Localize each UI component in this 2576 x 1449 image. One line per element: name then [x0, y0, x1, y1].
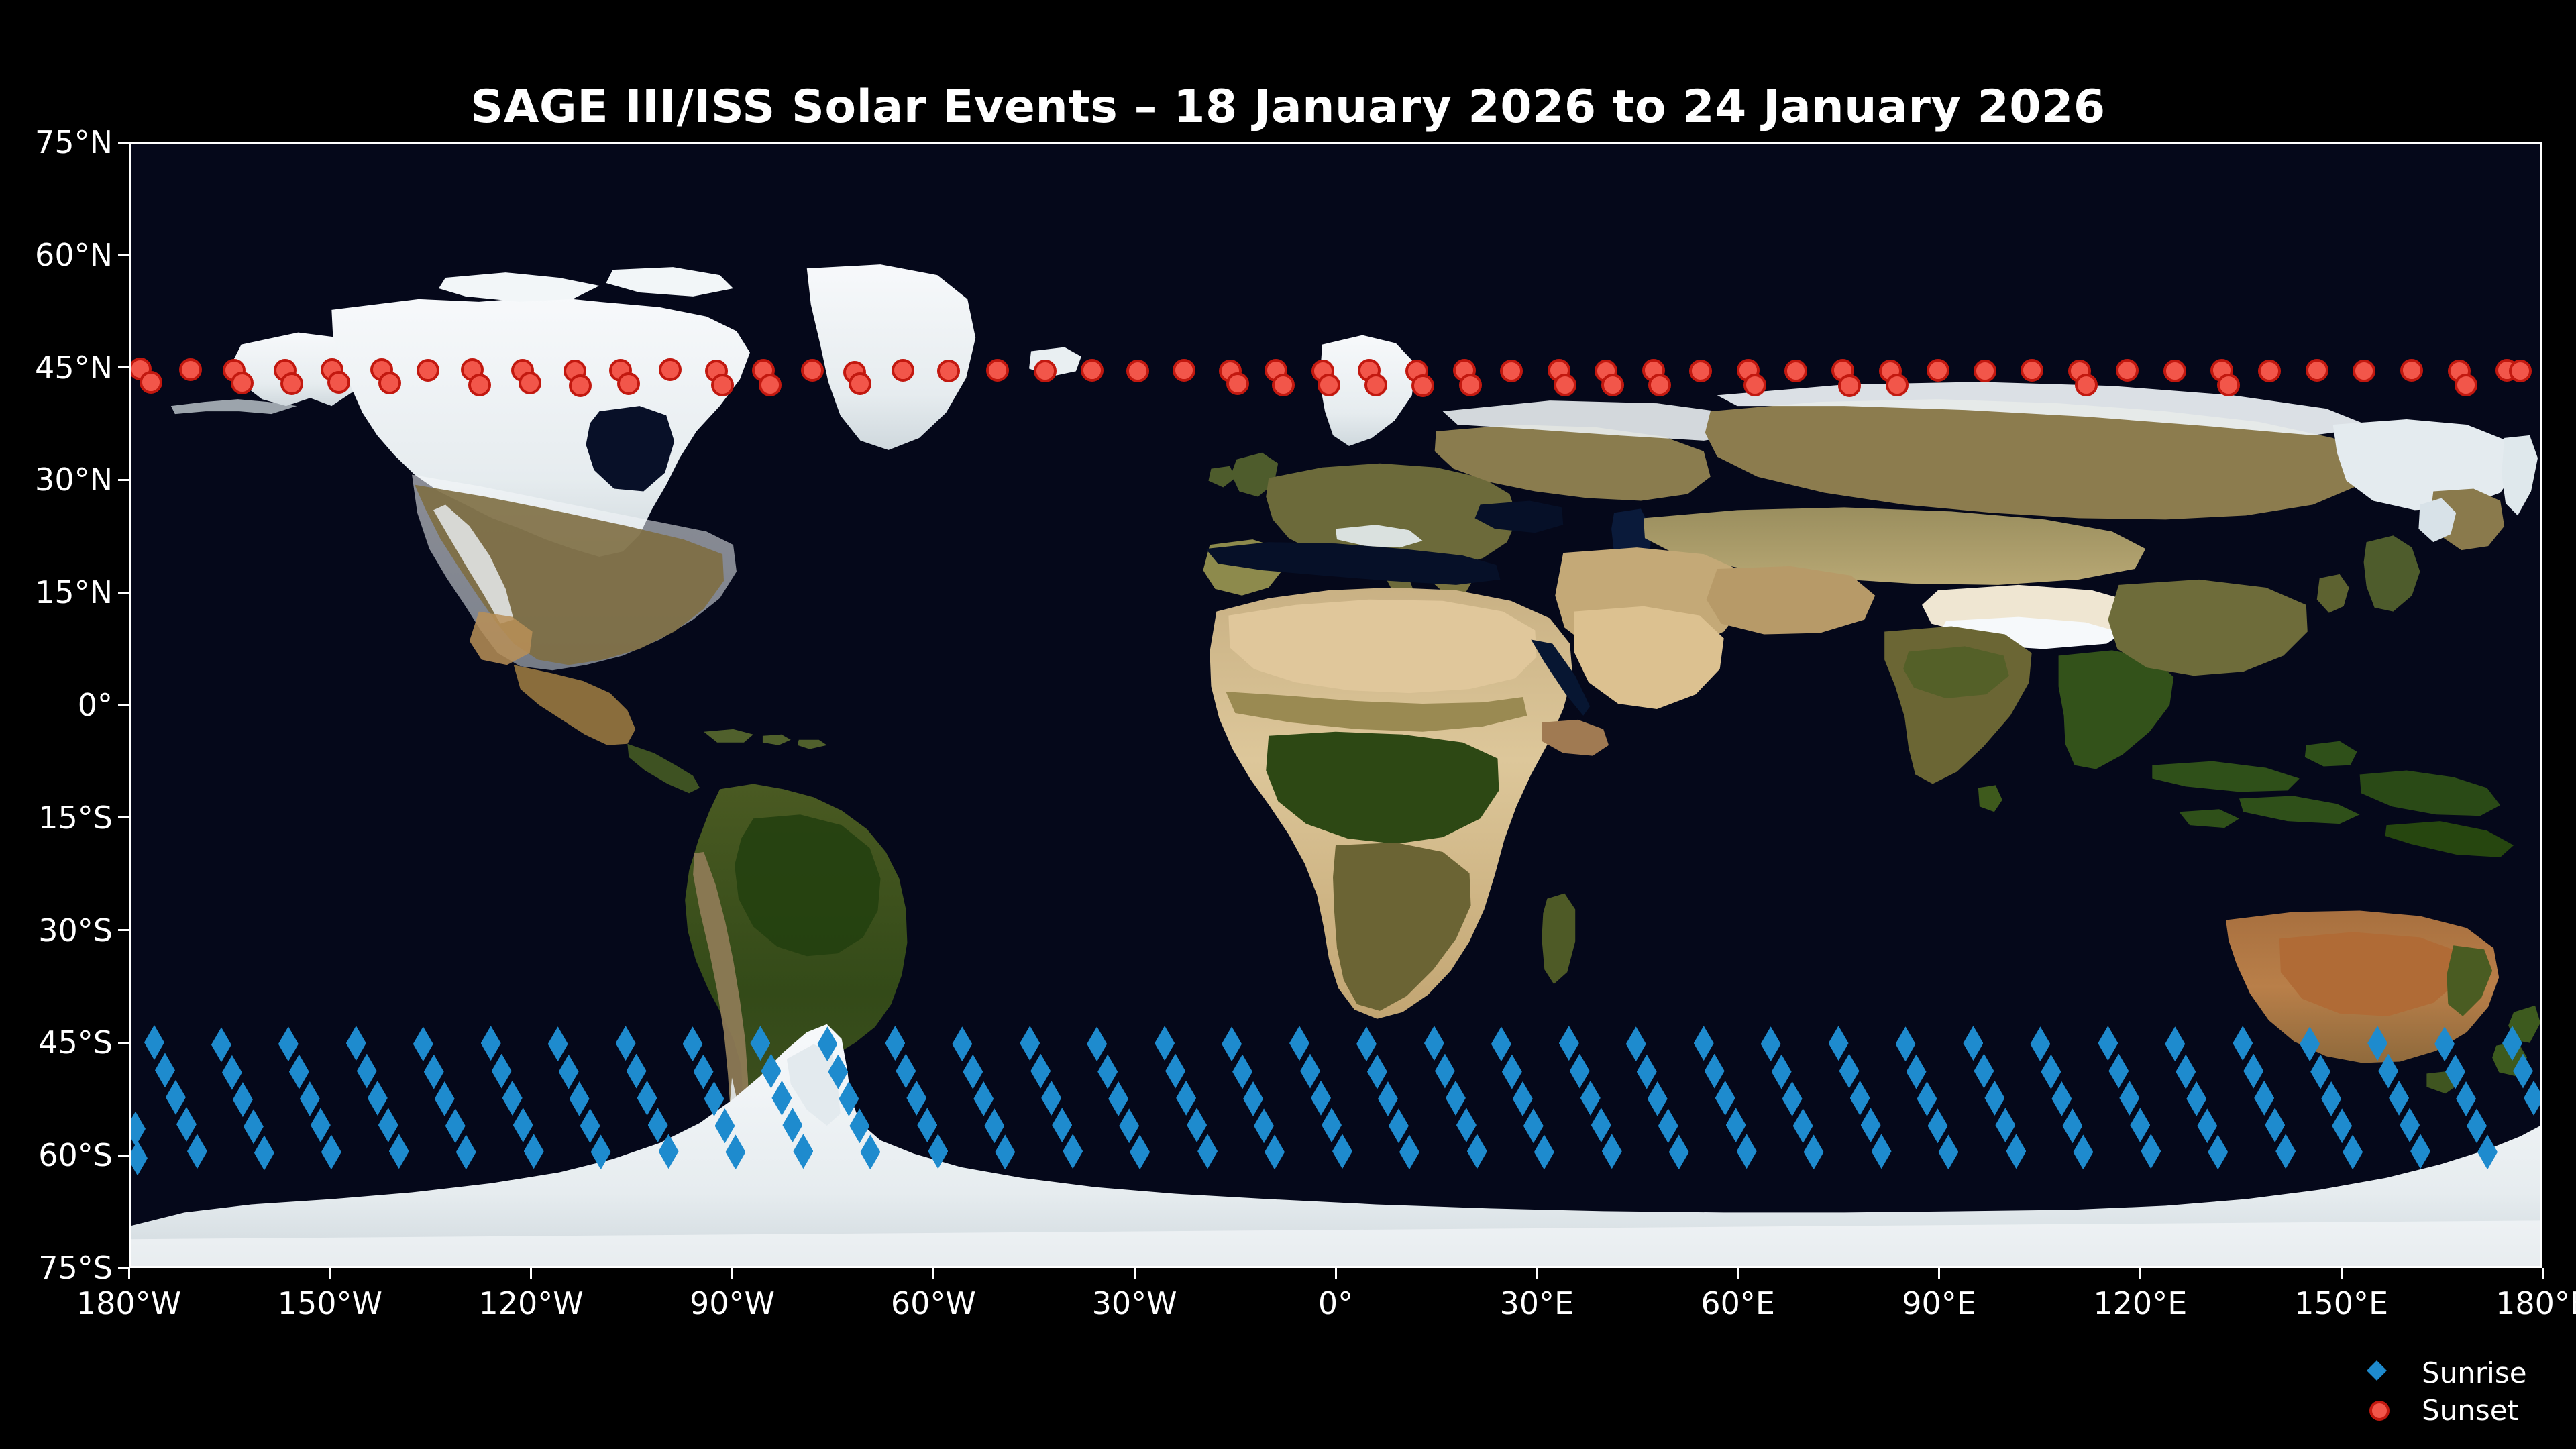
x-axis-label: 150°E	[2254, 1285, 2428, 1322]
x-axis-tick	[1737, 1268, 1739, 1279]
y-axis-label: 60°S	[0, 1137, 113, 1173]
x-axis-tick	[2139, 1268, 2141, 1279]
x-axis-tick	[1335, 1268, 1337, 1279]
x-axis-label: 30°W	[1047, 1285, 1222, 1322]
x-axis-label: 180°W	[42, 1285, 216, 1322]
y-axis-tick	[118, 1155, 129, 1157]
x-axis-tick	[1938, 1268, 1940, 1279]
page-title: SAGE III/ISS Solar Events – 18 January 2…	[0, 80, 2576, 133]
y-axis-tick	[118, 592, 129, 594]
x-axis-tick	[932, 1268, 934, 1279]
sunrise-diamond-icon	[2367, 1360, 2387, 1381]
world-basemap	[131, 144, 2540, 1266]
solar-events-figure: SAGE III/ISS Solar Events – 18 January 2…	[0, 0, 2576, 1449]
y-axis-tick	[118, 366, 129, 368]
x-axis-tick	[128, 1268, 130, 1279]
y-axis-label: 0°	[0, 687, 113, 723]
y-axis-label: 30°S	[0, 912, 113, 949]
y-axis-label: 60°N	[0, 237, 113, 273]
x-axis-label: 120°E	[2053, 1285, 2227, 1322]
y-axis-label: 15°S	[0, 800, 113, 836]
legend-label-sunrise: Sunrise	[2422, 1356, 2527, 1389]
y-axis-label: 45°S	[0, 1024, 113, 1061]
sunset-circle-icon	[2369, 1401, 2390, 1421]
legend-item-sunrise: Sunrise	[2355, 1355, 2576, 1390]
y-axis-tick	[118, 479, 129, 481]
y-axis-label: 30°N	[0, 462, 113, 498]
x-axis-tick	[2542, 1268, 2544, 1279]
x-axis-label: 150°W	[243, 1285, 417, 1322]
y-axis-tick	[118, 816, 129, 818]
x-axis-label: 90°E	[1852, 1285, 2027, 1322]
legend-label-sunset: Sunset	[2422, 1394, 2518, 1427]
x-axis-label: 60°W	[846, 1285, 1020, 1322]
y-axis-tick	[118, 704, 129, 706]
x-axis-tick	[731, 1268, 733, 1279]
x-axis-tick	[329, 1268, 331, 1279]
x-axis-label: 120°W	[444, 1285, 619, 1322]
legend: Sunrise Sunset	[2355, 1355, 2576, 1436]
x-axis-tick	[1536, 1268, 1538, 1279]
y-axis-tick	[118, 929, 129, 931]
x-axis-label: 180°E	[2455, 1285, 2576, 1322]
x-axis-label: 0°	[1248, 1285, 1423, 1322]
y-axis-label: 75°S	[0, 1250, 113, 1286]
y-axis-tick	[118, 142, 129, 144]
y-axis-tick	[118, 254, 129, 256]
x-axis-label: 30°E	[1450, 1285, 1624, 1322]
legend-item-sunset: Sunset	[2355, 1393, 2576, 1428]
x-axis-label: 60°E	[1651, 1285, 1825, 1322]
y-axis-tick	[118, 1042, 129, 1044]
y-axis-label: 75°N	[0, 124, 113, 160]
x-axis-tick	[1134, 1268, 1136, 1279]
x-axis-label: 90°W	[645, 1285, 820, 1322]
y-axis-label: 15°N	[0, 574, 113, 610]
x-axis-tick	[530, 1268, 532, 1279]
y-axis-label: 45°N	[0, 350, 113, 386]
x-axis-tick	[2341, 1268, 2343, 1279]
world-map-plot[interactable]	[129, 142, 2542, 1268]
